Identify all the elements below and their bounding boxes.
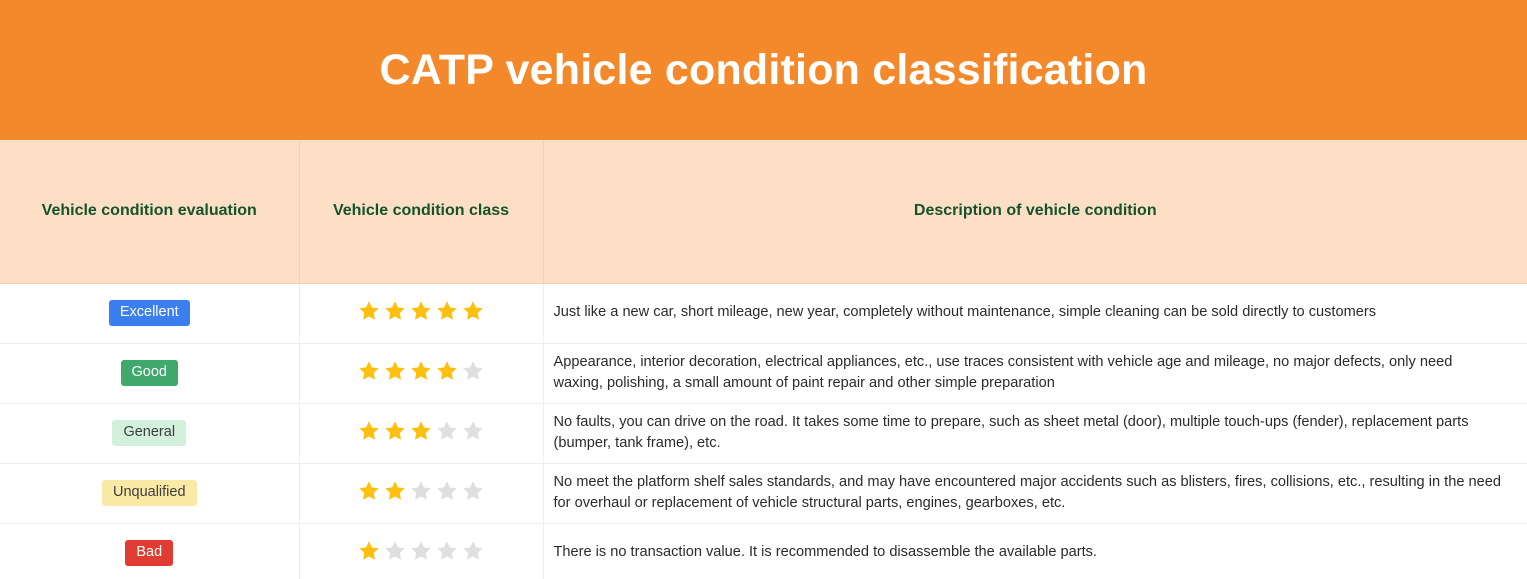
cell-evaluation: Good [0, 343, 299, 403]
status-badge: Good [121, 360, 178, 386]
status-badge: General [112, 420, 186, 446]
cell-description: Just like a new car, short mileage, new … [543, 283, 1527, 343]
cell-description: There is no transaction value. It is rec… [543, 523, 1527, 579]
vehicle-condition-page: CATP vehicle condition classification Ve… [0, 0, 1527, 579]
cell-description: No meet the platform shelf sales standar… [543, 463, 1527, 523]
star-empty-icon [409, 539, 433, 563]
table-body: ExcellentJust like a new car, short mile… [0, 283, 1527, 579]
star-filled-icon [461, 299, 485, 323]
table-row: GeneralNo faults, you can drive on the r… [0, 403, 1527, 463]
star-filled-icon [409, 359, 433, 383]
star-filled-icon [383, 479, 407, 503]
star-rating [357, 479, 485, 503]
star-empty-icon [461, 359, 485, 383]
vehicle-condition-table: Vehicle condition evaluation Vehicle con… [0, 140, 1527, 579]
cell-evaluation: General [0, 403, 299, 463]
star-filled-icon [357, 299, 381, 323]
star-filled-icon [383, 419, 407, 443]
cell-condition-class [299, 463, 543, 523]
star-empty-icon [435, 419, 459, 443]
star-rating [357, 419, 485, 443]
star-filled-icon [357, 419, 381, 443]
star-filled-icon [435, 299, 459, 323]
table-row: ExcellentJust like a new car, short mile… [0, 283, 1527, 343]
star-filled-icon [383, 359, 407, 383]
star-empty-icon [461, 479, 485, 503]
cell-description: Appearance, interior decoration, electri… [543, 343, 1527, 403]
star-filled-icon [357, 539, 381, 563]
title-banner: CATP vehicle condition classification [0, 0, 1527, 140]
cell-description: No faults, you can drive on the road. It… [543, 403, 1527, 463]
column-header-description: Description of vehicle condition [543, 140, 1527, 283]
table-row: GoodAppearance, interior decoration, ele… [0, 343, 1527, 403]
star-empty-icon [435, 479, 459, 503]
star-empty-icon [383, 539, 407, 563]
status-badge: Bad [125, 540, 173, 566]
star-filled-icon [435, 359, 459, 383]
star-empty-icon [461, 419, 485, 443]
table-row: UnqualifiedNo meet the platform shelf sa… [0, 463, 1527, 523]
cell-condition-class [299, 343, 543, 403]
cell-condition-class [299, 283, 543, 343]
cell-evaluation: Excellent [0, 283, 299, 343]
cell-condition-class [299, 403, 543, 463]
star-filled-icon [409, 299, 433, 323]
status-badge: Excellent [109, 300, 190, 326]
table-header-row: Vehicle condition evaluation Vehicle con… [0, 140, 1527, 283]
cell-evaluation: Bad [0, 523, 299, 579]
page-title: CATP vehicle condition classification [379, 46, 1147, 95]
star-rating [357, 359, 485, 383]
star-filled-icon [409, 419, 433, 443]
cell-condition-class [299, 523, 543, 579]
star-filled-icon [383, 299, 407, 323]
star-empty-icon [435, 539, 459, 563]
column-header-class: Vehicle condition class [299, 140, 543, 283]
star-empty-icon [409, 479, 433, 503]
star-rating [357, 539, 485, 563]
table-header: Vehicle condition evaluation Vehicle con… [0, 140, 1527, 283]
status-badge: Unqualified [102, 480, 197, 506]
star-filled-icon [357, 359, 381, 383]
star-rating [357, 299, 485, 323]
star-empty-icon [461, 539, 485, 563]
table-row: BadThere is no transaction value. It is … [0, 523, 1527, 579]
star-filled-icon [357, 479, 381, 503]
column-header-evaluation: Vehicle condition evaluation [0, 140, 299, 283]
cell-evaluation: Unqualified [0, 463, 299, 523]
